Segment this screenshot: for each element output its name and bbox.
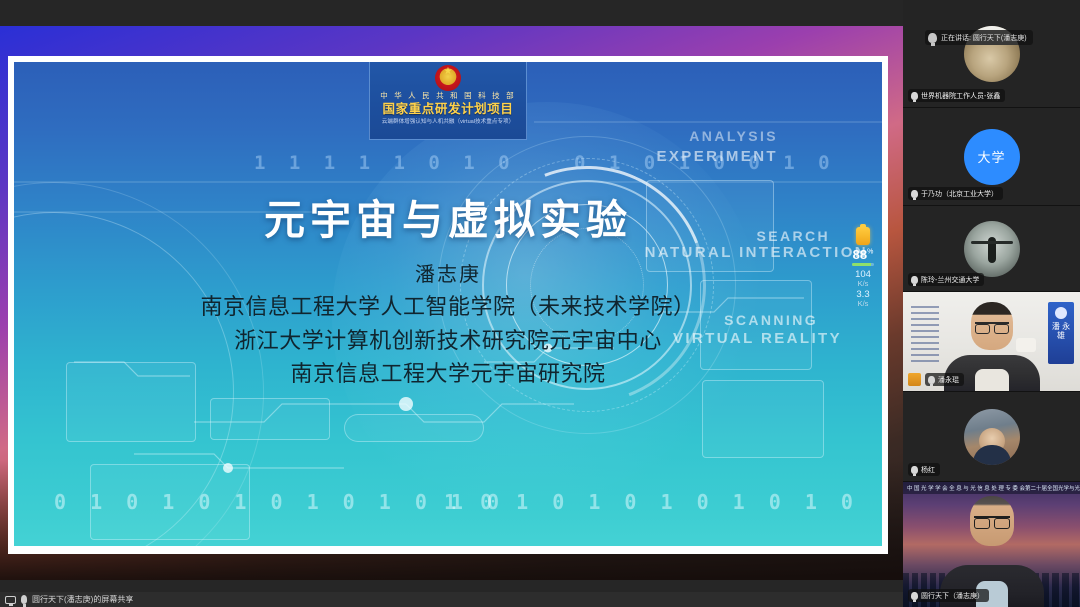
participant-name-pill-4: 潘永琨 [925, 373, 964, 386]
person-shirt [975, 369, 1009, 391]
presentation-slide-frame: 1 1 1 1 1 0 1 0 0 1 0 1 0 0 1 0 0 1 0 1 … [8, 56, 888, 554]
author-name: 潘志庚 [14, 260, 882, 290]
share-status-text: 圆行天下(潘志庚)的屏幕共享 [32, 594, 133, 605]
microphone-icon [911, 276, 918, 284]
glasses-icon [975, 322, 1009, 330]
microphone-icon [911, 466, 918, 474]
microphone-icon [928, 376, 935, 384]
zoom-meeting-window: 1 1 1 1 1 0 1 0 0 1 0 1 0 0 1 0 0 1 0 1 … [0, 0, 1080, 607]
desk-mug [1016, 338, 1036, 352]
participant-tile-2[interactable]: 大学 于乃功（北京工业大学） [903, 108, 1080, 206]
binary-strip-top-left: 1 1 1 1 1 0 1 0 [254, 152, 516, 174]
screen-share-icon[interactable] [5, 596, 16, 604]
participant-name-2: 于乃功（北京工业大学） [921, 189, 998, 199]
banner-text: 潘 永 雄 [1048, 322, 1074, 340]
avatar: 大学 [964, 129, 1020, 185]
participant-name-5: 杨红 [921, 465, 935, 475]
decorative-panel-g [344, 414, 484, 442]
participant-tile-5[interactable]: 杨红 [903, 392, 1080, 482]
avatar-initials: 大学 [977, 147, 1005, 166]
participant-name-pill-2: 于乃功（北京工业大学） [908, 187, 1003, 200]
microphone-icon[interactable] [21, 595, 27, 604]
decorative-panel-e [90, 464, 250, 540]
self-video-badge [908, 373, 921, 386]
participant-name-1: 世界机器院工作人员-张鑫 [921, 91, 1000, 101]
participant-tile-3[interactable]: 陈玲-兰州交通大学 [903, 206, 1080, 292]
participant-name-pill-3: 陈玲-兰州交通大学 [908, 273, 984, 286]
wall-poster [911, 306, 939, 362]
deco-label-natural-interaction: NATURAL INTERACTION [645, 244, 868, 261]
slide-title: 元宇宙与虚拟实验 [14, 186, 882, 246]
participant-name-pill-1: 世界机器院工作人员-张鑫 [908, 89, 1005, 102]
participant-name-pill-6: 圆行天下（潘志庚） [908, 589, 989, 602]
participant-name-4: 潘永琨 [938, 375, 959, 385]
badge-subtitle-label: 云端群体增强认知与人机共融（virtual技术重点专项） [370, 119, 526, 126]
participant-name-3: 陈玲-兰州交通大学 [921, 275, 979, 285]
binary-strip-top-right: 0 1 0 1 0 0 1 0 [574, 152, 836, 174]
participant-tile-1[interactable]: 正在讲话: 圆行天下(潘志庚) 世界机器院工作人员-张鑫 [903, 0, 1080, 108]
background-banner: 潘 永 雄 [1048, 302, 1074, 364]
presentation-slide: 1 1 1 1 1 0 1 0 0 1 0 1 0 0 1 0 0 1 0 1 … [14, 62, 882, 546]
binary-strip-mid-right: 1 0 1 0 1 0 1 0 1 0 1 0 [444, 490, 859, 514]
decorative-panel-f [210, 398, 330, 440]
participant-tile-4[interactable]: 潘 永 雄 潘永琨 [903, 292, 1080, 392]
affiliation-3: 南京信息工程大学元宇宙研究院 [14, 357, 882, 390]
participant-name-6: 圆行天下（潘志庚） [921, 591, 984, 601]
video-overlay-topbar: 中 国 光 学 学 会 全 息 与 光 信 息 处 理 专 委 会 第二十届全国… [903, 482, 1080, 494]
deco-label-analysis: ANALYSIS [689, 128, 778, 144]
overlay-text-right: 第二十届全国光学与光电子学学术会议 第 二 分 会 场 [1025, 484, 1080, 492]
active-speaker-banner: 正在讲话: 圆行天下(潘志庚) [925, 30, 1033, 45]
active-speaker-text: 正在讲话: 圆行天下(潘志庚) [941, 33, 1027, 43]
deco-label-experiment: EXPERIMENT [656, 148, 778, 165]
decorative-panel-c [702, 380, 824, 458]
microphone-icon [911, 92, 918, 100]
bottom-status-bar: 圆行天下(潘志庚)的屏幕共享 [0, 592, 903, 607]
microphone-icon [911, 190, 918, 198]
national-program-badge: 中 华 人 民 共 和 国 科 技 部 国家重点研发计划项目 云端群体增强认知与… [369, 62, 527, 140]
affiliation-1: 南京信息工程大学人工智能学院（未来技术学院） [14, 290, 882, 323]
percent-symbol: % [867, 249, 873, 256]
participant-name-pill-5: 杨红 [908, 463, 940, 476]
shared-screen-region[interactable]: 1 1 1 1 1 0 1 0 0 1 0 1 0 0 1 0 0 1 0 1 … [0, 0, 903, 592]
affiliation-2: 浙江大学计算机创新技术研究院元宇宙中心 [14, 324, 882, 357]
participant-tile-6[interactable]: 中 国 光 学 学 会 全 息 与 光 信 息 处 理 专 委 会 第二十届全国… [903, 482, 1080, 607]
avatar [964, 221, 1020, 277]
avatar [964, 409, 1020, 465]
overlay-text-left: 中 国 光 学 学 会 全 息 与 光 信 息 处 理 专 委 会 [907, 484, 1025, 492]
badge-program-label: 国家重点研发计划项目 [370, 101, 526, 117]
national-emblem-icon [435, 65, 461, 91]
participant-filmstrip[interactable]: 正在讲话: 圆行天下(潘志庚) 世界机器院工作人员-张鑫 大学 于乃功（北京工业… [903, 0, 1080, 607]
glasses-icon [974, 516, 1010, 525]
binary-strip-mid-left: 0 1 0 1 0 1 0 1 0 1 0 1 0 [54, 490, 505, 514]
badge-ministry-label: 中 华 人 民 共 和 国 科 技 部 [370, 92, 526, 100]
microphone-icon [911, 592, 918, 600]
slide-authors-block: 潘志庚 南京信息工程大学人工智能学院（未来技术学院） 浙江大学计算机创新技术研究… [14, 260, 882, 391]
microphone-icon [928, 33, 937, 43]
